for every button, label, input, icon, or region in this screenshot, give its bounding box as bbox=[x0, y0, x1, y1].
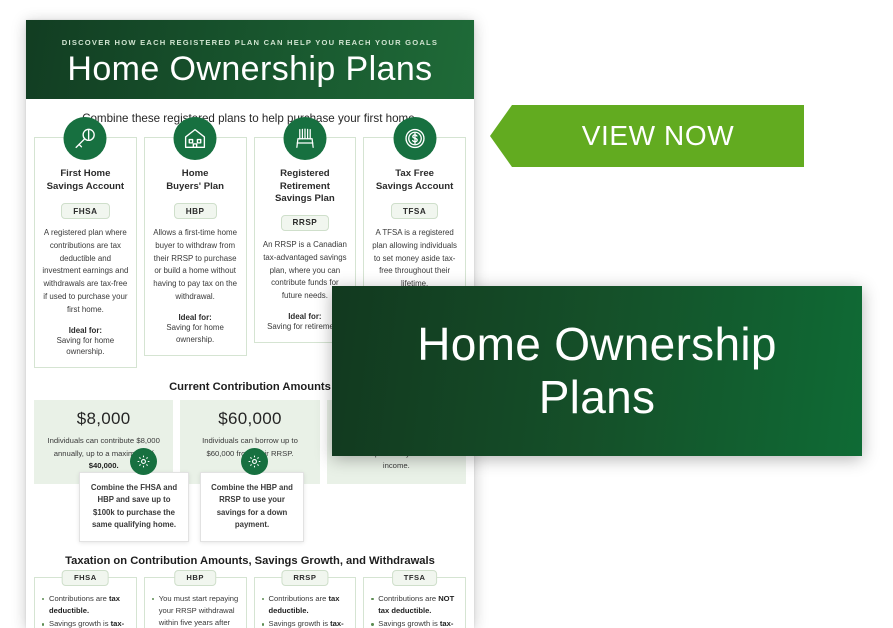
plan-name-line2: Buyers' Plan bbox=[166, 181, 224, 192]
taxation-list: Contributions are tax deductible.Savings… bbox=[42, 593, 129, 628]
adirondack-chair-icon bbox=[283, 117, 326, 160]
house-icon bbox=[174, 117, 217, 160]
taxation-badge-fhsa: FHSA bbox=[62, 570, 109, 586]
plan-badge-hbp: HBP bbox=[174, 203, 217, 219]
taxation-badge-hbp: HBP bbox=[174, 570, 216, 586]
taxation-badge-tfsa: TFSA bbox=[392, 570, 438, 586]
taxation-badge-rrsp: RRSP bbox=[281, 570, 328, 586]
overlay-title: Home Ownership Plans bbox=[360, 318, 834, 425]
plan-badge-rrsp: RRSP bbox=[281, 215, 330, 231]
plan-ideal-text: Saving for home ownership. bbox=[152, 322, 239, 346]
plan-name: Tax Free Savings Account bbox=[371, 168, 458, 194]
plan-name-line1: First Home bbox=[60, 168, 110, 179]
plan-name-line2: Retirement Savings Plan bbox=[275, 181, 335, 205]
taxation-list: You must start repaying your RRSP withdr… bbox=[152, 593, 239, 628]
combine-tip-box[interactable]: Combine the HBP and RRSP to use your sav… bbox=[200, 472, 304, 542]
plan-ideal-text: Saving for home ownership. bbox=[42, 335, 129, 359]
taxation-list-item: Contributions are tax deductible. bbox=[262, 593, 349, 618]
plan-description: A registered plan where contributions ar… bbox=[42, 227, 129, 317]
plan-card-fhsa[interactable]: First Home Savings Account FHSA A regist… bbox=[34, 137, 137, 368]
combine-tip-box[interactable]: Combine the FHSA and HBP and save up to … bbox=[79, 472, 189, 542]
plan-name-line2: Savings Account bbox=[47, 181, 124, 192]
contribution-amount: $60,000 bbox=[188, 409, 311, 429]
plan-badge-tfsa: TFSA bbox=[391, 203, 438, 219]
view-now-button[interactable]: VIEW NOW bbox=[490, 105, 804, 167]
taxation-list-item: Savings growth is tax-free. bbox=[42, 618, 129, 628]
taxation-card-rrsp[interactable]: RRSP Contributions are tax deductible.Sa… bbox=[254, 577, 357, 628]
plan-name: Home Buyers' Plan bbox=[152, 168, 239, 194]
plan-card-hbp[interactable]: Home Buyers' Plan HBP Allows a first-tim… bbox=[144, 137, 247, 356]
taxation-list-item: Contributions are tax deductible. bbox=[42, 593, 129, 618]
header-eyebrow: DISCOVER HOW EACH REGISTERED PLAN CAN HE… bbox=[26, 38, 474, 47]
plan-ideal-label: Ideal for: bbox=[42, 326, 129, 335]
contribution-desc-bold: $40,000. bbox=[89, 461, 119, 470]
taxation-section: FHSA Contributions are tax deductible.Sa… bbox=[26, 577, 474, 628]
plan-description: Allows a first-time home buyer to withdr… bbox=[152, 227, 239, 304]
overlay-title-card[interactable]: Home Ownership Plans bbox=[332, 286, 862, 456]
taxation-list: Contributions are NOT tax deductible.Sav… bbox=[371, 593, 458, 628]
page-title: Home Ownership Plans bbox=[26, 51, 474, 88]
plan-name: Registered Retirement Savings Plan bbox=[262, 168, 349, 206]
taxation-list-item: You must start repaying your RRSP withdr… bbox=[152, 593, 239, 628]
taxation-list-item: Savings growth is tax-deferred. bbox=[262, 618, 349, 628]
plan-name-line1: Home bbox=[182, 168, 209, 179]
taxation-row: FHSA Contributions are tax deductible.Sa… bbox=[34, 577, 466, 628]
taxation-heading: Taxation on Contribution Amounts, Saving… bbox=[26, 555, 474, 567]
document-header: DISCOVER HOW EACH REGISTERED PLAN CAN HE… bbox=[26, 20, 474, 99]
taxation-card-fhsa[interactable]: FHSA Contributions are tax deductible.Sa… bbox=[34, 577, 137, 628]
key-icon bbox=[64, 117, 107, 160]
taxation-list-item: Contributions are NOT tax deductible. bbox=[371, 593, 458, 618]
taxation-card-hbp[interactable]: HBP You must start repaying your RRSP wi… bbox=[144, 577, 247, 628]
plan-name-line1: Registered bbox=[280, 168, 330, 179]
dollar-coin-icon bbox=[393, 117, 436, 160]
taxation-card-tfsa[interactable]: TFSA Contributions are NOT tax deductibl… bbox=[363, 577, 466, 628]
plan-name: First Home Savings Account bbox=[42, 168, 129, 194]
taxation-list-item: Savings growth is tax-free. bbox=[371, 618, 458, 628]
plan-description: A TFSA is a registered plan allowing ind… bbox=[371, 227, 458, 291]
plan-ideal-label: Ideal for: bbox=[152, 313, 239, 322]
view-now-label: VIEW NOW bbox=[582, 120, 735, 152]
combine-tips-row: Combine the FHSA and HBP and save up to … bbox=[26, 472, 474, 542]
plan-name-line2: Savings Account bbox=[376, 181, 453, 192]
plan-name-line1: Tax Free bbox=[395, 168, 434, 179]
contribution-amount: $8,000 bbox=[42, 409, 165, 429]
taxation-list: Contributions are tax deductible.Savings… bbox=[262, 593, 349, 628]
plan-badge-fhsa: FHSA bbox=[61, 203, 109, 219]
